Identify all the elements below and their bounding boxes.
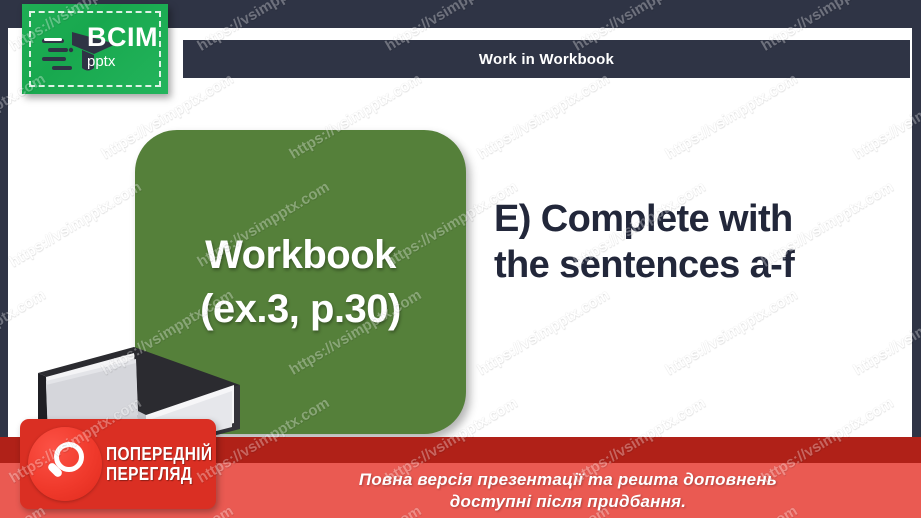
preview-badge[interactable]: ПОПЕРЕДНІЙ ПЕРЕГЛЯД: [20, 419, 216, 509]
workbook-card-line-1: Workbook: [205, 228, 396, 282]
purchase-notice-text: Повна версія презентації та решта доповн…: [144, 469, 777, 513]
task-instruction-line-1: E) Complete with: [494, 196, 894, 242]
preview-badge-labels: ПОПЕРЕДНІЙ ПЕРЕГЛЯД: [106, 444, 230, 484]
slide-title-bar: Work in Workbook: [183, 40, 910, 78]
logo-wordmark-sub: pptx: [87, 53, 158, 71]
magnifier-icon: [28, 427, 102, 501]
bcim-pptx-logo[interactable]: BCIM pptx: [22, 4, 168, 94]
slide-canvas: BCIM pptx Work in Workbook Workbook (ex.…: [0, 0, 921, 518]
slide-title-text: Work in Workbook: [479, 51, 614, 68]
purchase-notice-line-1: Повна версія презентації та решта доповн…: [359, 469, 777, 491]
purchase-notice-line-2: доступні після придбання.: [359, 491, 777, 513]
preview-badge-line-2: ПЕРЕГЛЯД: [106, 464, 212, 484]
task-instruction-text: E) Complete with the sentences a-f: [494, 196, 894, 289]
task-instruction-line-2: the sentences a-f: [494, 242, 894, 288]
workbook-card-line-2: (ex.3, p.30): [200, 282, 401, 336]
logo-wordmark: BCIM pptx: [87, 24, 158, 71]
preview-badge-line-1: ПОПЕРЕДНІЙ: [106, 444, 212, 464]
logo-wordmark-main: BCIM: [87, 24, 158, 51]
